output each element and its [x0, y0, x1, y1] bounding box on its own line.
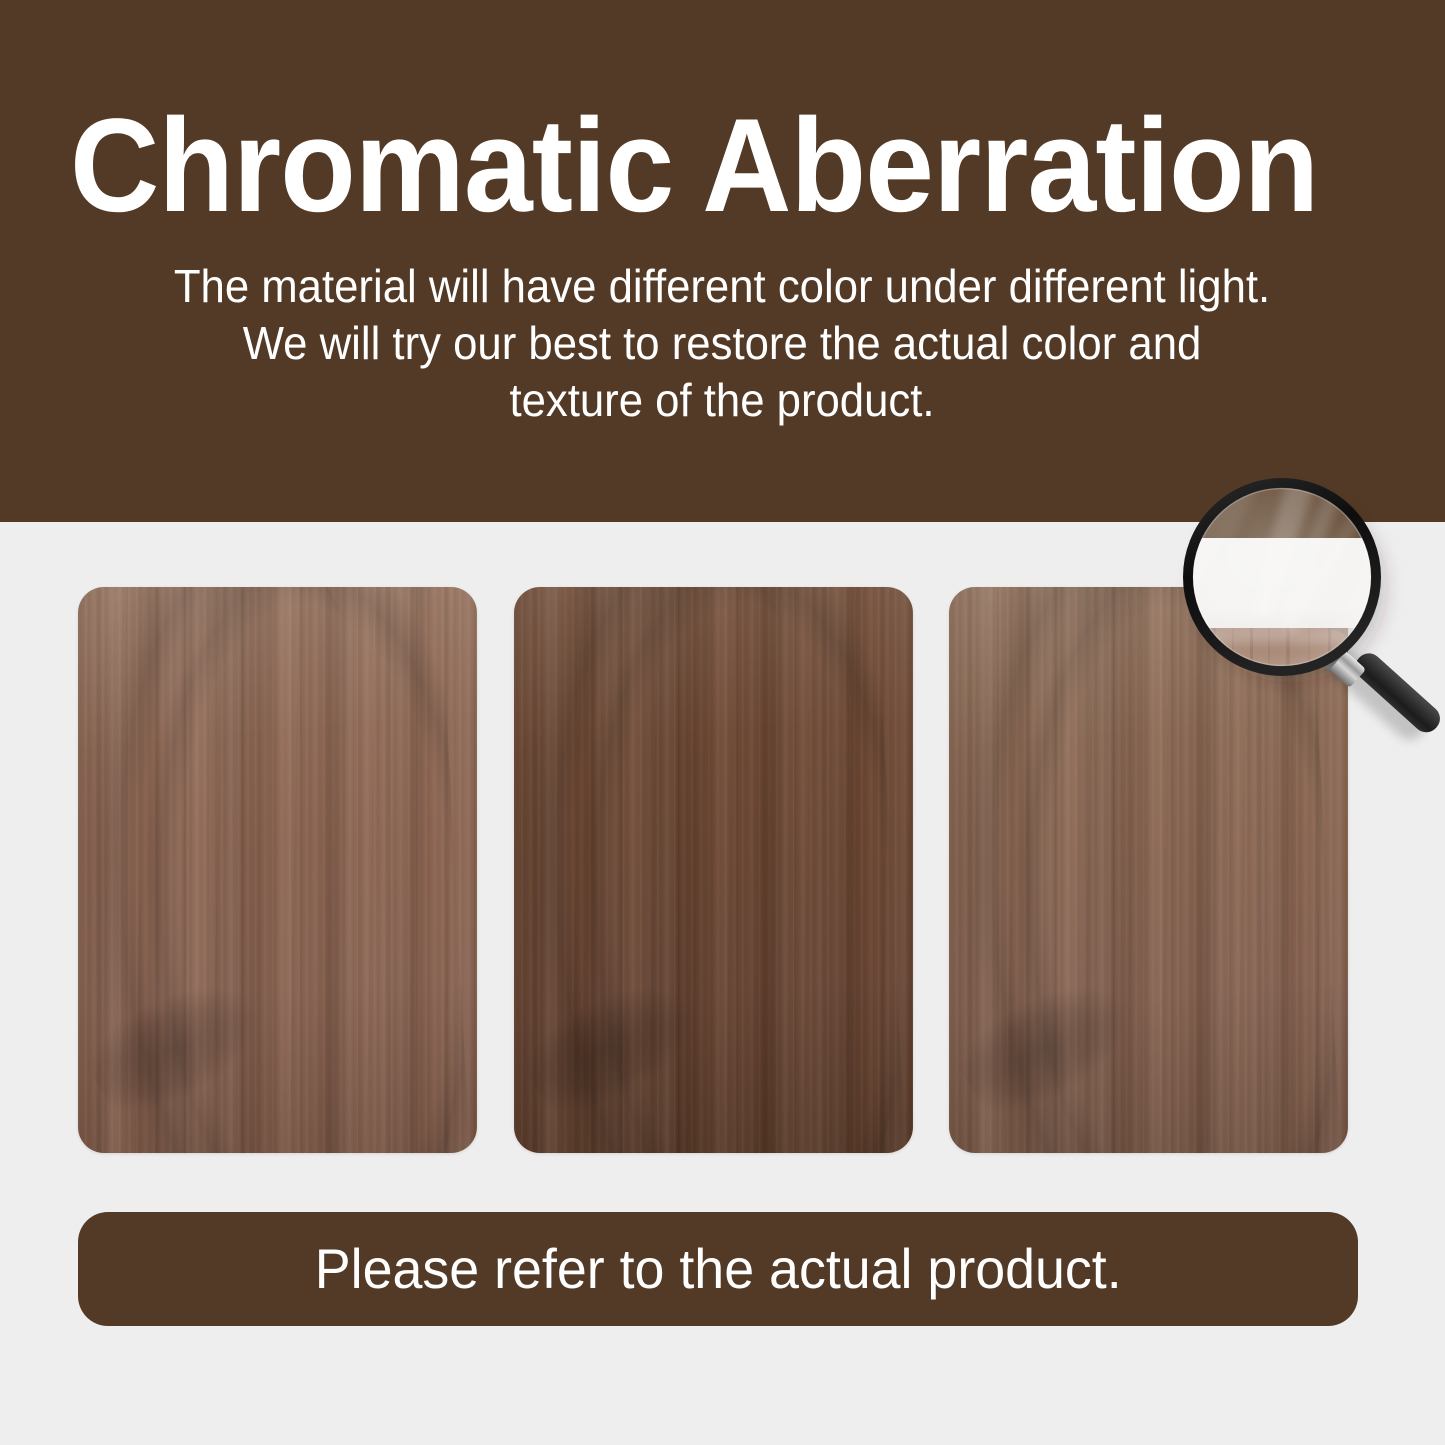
subtitle-line-1: The material will have different color u…	[105, 258, 1340, 315]
footer-banner-label: Please refer to the actual product.	[315, 1241, 1122, 1297]
wood-swatch-3	[949, 587, 1348, 1153]
subtitle-line-3: texture of the product.	[105, 372, 1340, 429]
chromatic-aberration-infographic: Chromatic Aberration The material will h…	[0, 0, 1445, 1445]
header-band: Chromatic Aberration The material will h…	[0, 0, 1445, 522]
subtitle-line-2: We will try our best to restore the actu…	[105, 315, 1340, 372]
wood-swatch-1	[78, 587, 477, 1153]
page-title: Chromatic Aberration	[70, 100, 1288, 233]
wood-sheen-3	[949, 587, 1348, 1153]
wood-swatch-2	[514, 587, 913, 1153]
wood-sheen-1	[78, 587, 477, 1153]
wood-sheen-2	[514, 587, 913, 1153]
header-subtitle: The material will have different color u…	[72, 258, 1372, 429]
footer-banner: Please refer to the actual product.	[78, 1212, 1358, 1326]
wood-swatch-row	[78, 587, 1348, 1153]
